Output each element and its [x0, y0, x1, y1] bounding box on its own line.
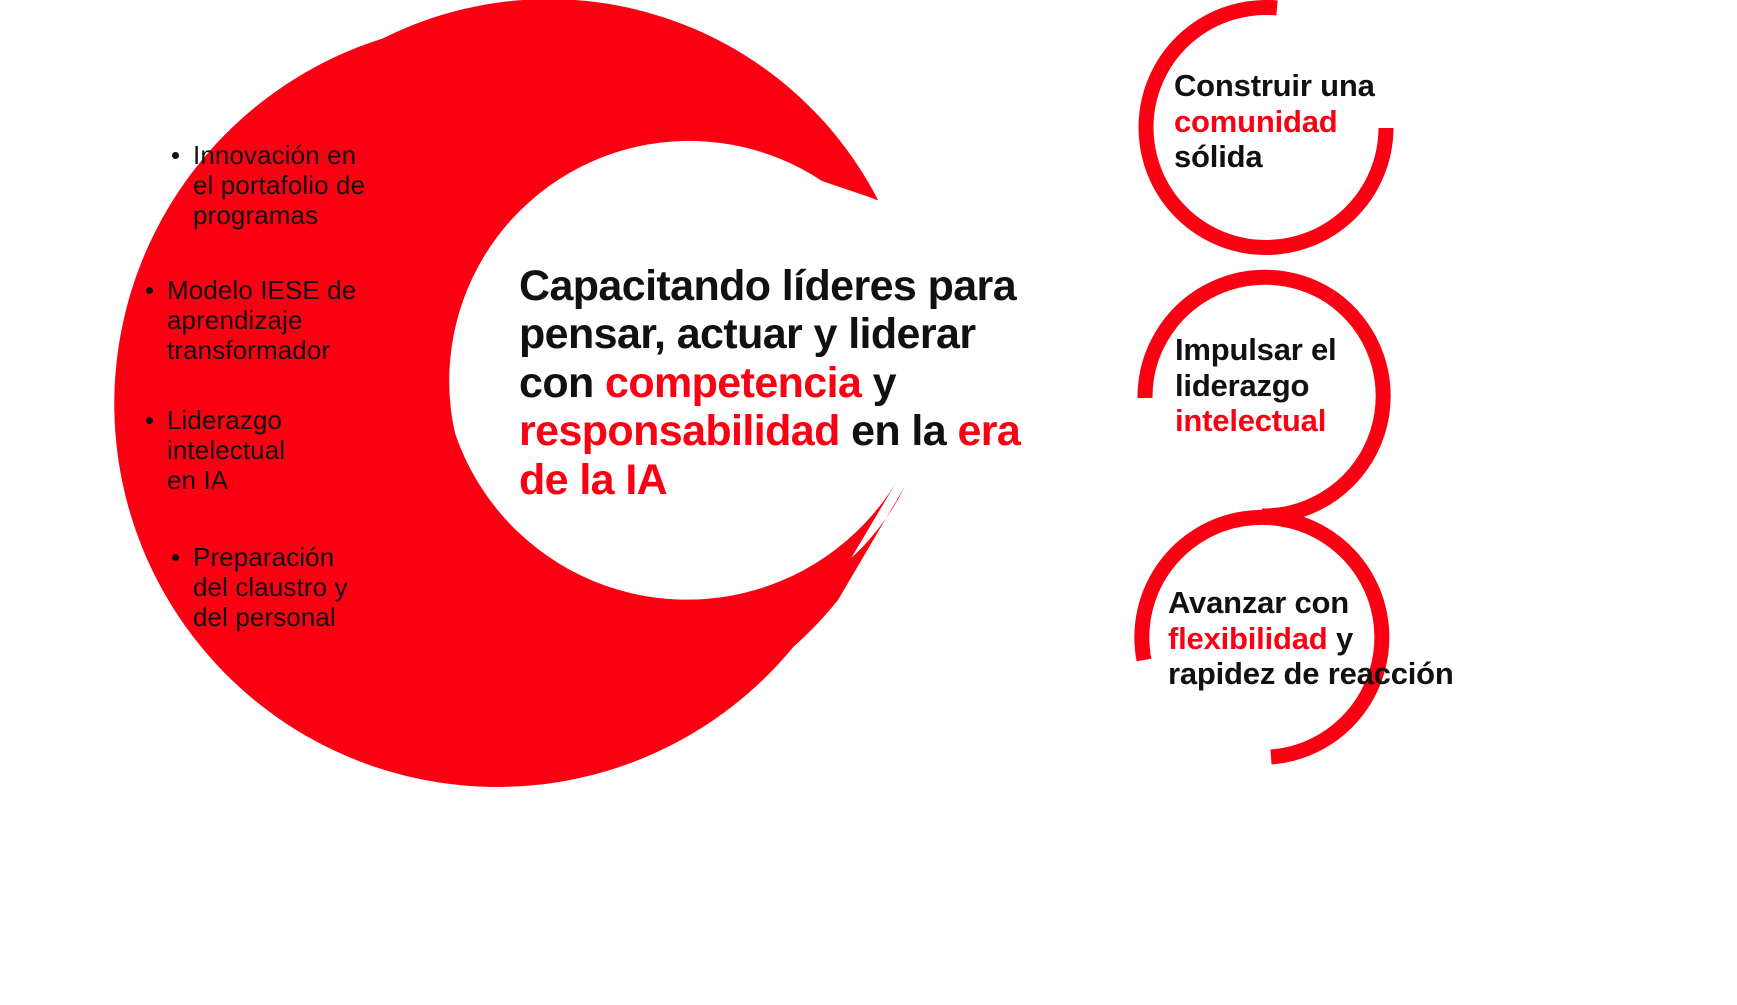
bullet-item-preparacion-claustro: Preparación del claustro y del personal: [172, 542, 402, 632]
bullet-item-innovacion-portafolio: Innovación en el portafolio de programas: [172, 140, 402, 230]
bullet-label: Liderazgo intelectual en IA: [167, 405, 285, 495]
callout-comunidad-solida: Construir una comunidad sólida: [1132, 0, 1432, 274]
bullet-item-modelo-iese: Modelo IESE de aprendizaje transformador: [146, 275, 396, 365]
callout-label: Construir una comunidad sólida: [1174, 68, 1424, 175]
infographic-canvas: Innovación en el portafolio de programas…: [0, 0, 1737, 1005]
bullet-label: Innovación en el portafolio de programas: [193, 140, 365, 230]
bullet-dot-icon: [146, 287, 153, 294]
bullet-label: Preparación del claustro y del personal: [193, 542, 348, 632]
bullet-dot-icon: [172, 152, 179, 159]
bullet-dot-icon: [172, 554, 179, 561]
callout-flexibilidad-rapidez: Avanzar con flexibilidad y rapidez de re…: [1128, 505, 1498, 795]
bullet-list: Innovación en el portafolio de programas…: [0, 0, 430, 1005]
bullet-item-liderazgo-ia: Liderazgo intelectual en IA: [146, 405, 376, 495]
bullet-dot-icon: [146, 417, 153, 424]
callout-label: Impulsar el liderazgo intelectual: [1175, 332, 1425, 439]
main-headline: Capacitando líderes para pensar, actuar …: [519, 262, 1039, 504]
callout-liderazgo-intelectual: Impulsar el liderazgo intelectual: [1140, 250, 1440, 540]
bullet-label: Modelo IESE de aprendizaje transformador: [167, 275, 356, 365]
callout-label: Avanzar con flexibilidad y rapidez de re…: [1168, 585, 1488, 692]
